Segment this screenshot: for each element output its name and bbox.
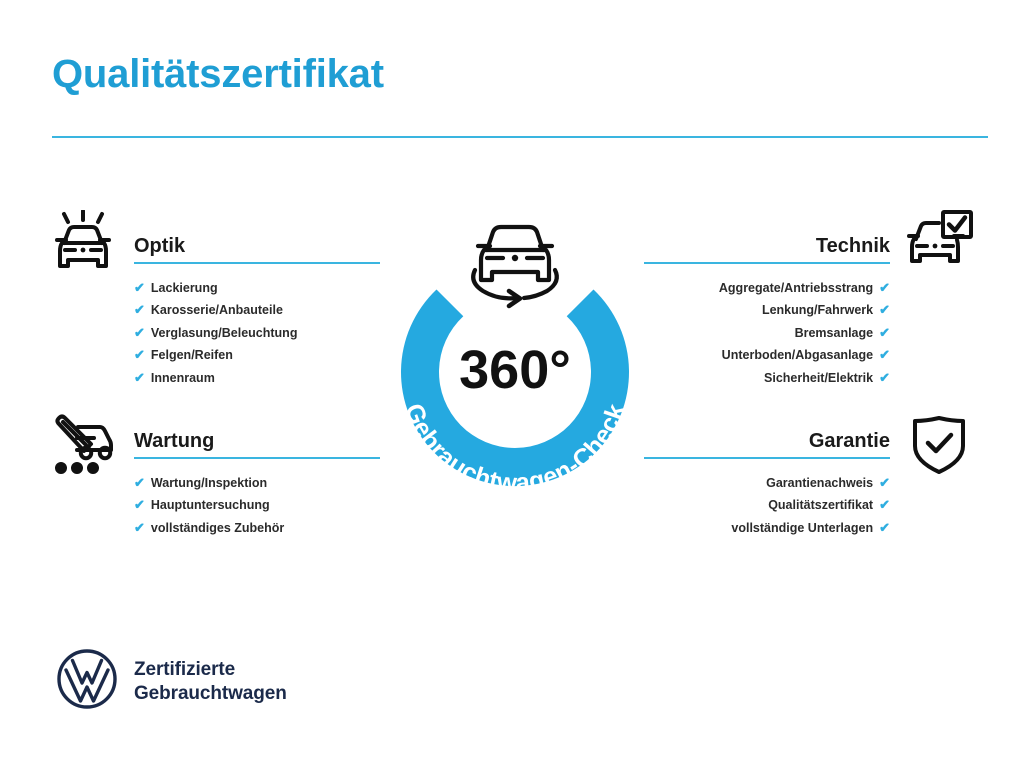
list-item: ✔Innenraum (134, 366, 380, 389)
check-icon: ✔ (879, 347, 890, 362)
title-divider (52, 136, 988, 138)
list-item-label: Qualitätszertifikat (768, 498, 873, 512)
shield-check-icon (910, 414, 968, 481)
list-item-label: Aggregate/Antriebsstrang (719, 281, 873, 295)
list-item-label: Lenkung/Fahrwerk (762, 303, 873, 317)
check-icon: ✔ (134, 280, 145, 295)
list-item-label: Innenraum (151, 371, 215, 385)
list-item: ✔Karosserie/Anbauteile (134, 299, 380, 322)
list-item: ✔Verglasung/Beleuchtung (134, 321, 380, 344)
vw-lockup-line1: Zertifizierte (134, 658, 287, 681)
list-item-label: Unterboden/Abgasanlage (722, 348, 873, 362)
vw-lockup-text: Zertifizierte Gebrauchtwagen (134, 658, 287, 704)
check-icon: ✔ (879, 475, 890, 490)
list-item: Bremsanlage✔ (644, 321, 890, 344)
list-item: ✔Wartung/Inspektion (134, 471, 380, 494)
list-item: Unterboden/Abgasanlage✔ (644, 344, 890, 367)
list-item-label: Felgen/Reifen (151, 348, 233, 362)
vw-certified-lockup: Zertifizierte Gebrauchtwagen (56, 648, 287, 715)
vw-logo (56, 648, 118, 715)
check-icon: ✔ (879, 280, 890, 295)
list-item-label: Verglasung/Beleuchtung (151, 326, 298, 340)
section-technik: Technik Aggregate/Antriebsstrang✔ Lenkun… (644, 236, 890, 389)
section-list-technik: Aggregate/Antriebsstrang✔ Lenkung/Fahrwe… (644, 264, 890, 389)
certificate-page: Qualitätszertifikat Optik ✔Lackierung ✔K… (0, 0, 1024, 768)
check-icon: ✔ (134, 520, 145, 535)
section-list-wartung: ✔Wartung/Inspektion ✔Hauptuntersuchung ✔… (52, 459, 380, 539)
section-list-optik: ✔Lackierung ✔Karosserie/Anbauteile ✔Verg… (52, 264, 380, 389)
check-icon: ✔ (134, 370, 145, 385)
list-item: vollständige Unterlagen✔ (644, 516, 890, 539)
page-title: Qualitätszertifikat (52, 52, 384, 96)
list-item-label: vollständiges Zubehör (151, 521, 284, 535)
list-item: Garantienachweis✔ (644, 471, 890, 494)
check-icon: ✔ (879, 325, 890, 340)
section-wartung: Wartung ✔Wartung/Inspektion ✔Hauptunters… (52, 431, 380, 539)
check-icon: ✔ (879, 370, 890, 385)
check-icon: ✔ (879, 497, 890, 512)
list-item: ✔Lackierung (134, 276, 380, 299)
list-item-label: Karosserie/Anbauteile (151, 303, 283, 317)
badge-center-label: 360° (459, 340, 571, 400)
list-item: Sicherheit/Elektrik✔ (644, 366, 890, 389)
list-item-label: Sicherheit/Elektrik (764, 371, 873, 385)
check-icon: ✔ (134, 302, 145, 317)
section-heading-optik: Optik (52, 236, 380, 262)
check-icon: ✔ (134, 347, 145, 362)
list-item-label: vollständige Unterlagen (731, 521, 873, 535)
section-heading-wartung: Wartung (52, 431, 380, 457)
car-rotate-360-icon (473, 227, 557, 306)
section-garantie: Garantie Garantienachweis✔ Qualitätszert… (644, 431, 890, 539)
car-checkbox-icon (906, 209, 974, 276)
list-item: ✔Felgen/Reifen (134, 344, 380, 367)
check-icon: ✔ (879, 302, 890, 317)
list-item: Qualitätszertifikat✔ (644, 494, 890, 517)
badge-360-gebrauchtwagen-check: 360° Gebrauchtwagen-Check (370, 192, 660, 502)
section-optik: Optik ✔Lackierung ✔Karosserie/Anbauteile… (52, 236, 380, 389)
list-item-label: Bremsanlage (795, 326, 874, 340)
check-icon: ✔ (134, 497, 145, 512)
list-item-label: Lackierung (151, 281, 218, 295)
list-item-label: Garantienachweis (766, 476, 873, 490)
check-icon: ✔ (879, 520, 890, 535)
section-heading-technik: Technik (644, 236, 890, 262)
section-heading-garantie: Garantie (644, 431, 890, 457)
list-item: Lenkung/Fahrwerk✔ (644, 299, 890, 322)
section-list-garantie: Garantienachweis✔ Qualitätszertifikat✔ v… (644, 459, 890, 539)
list-item: Aggregate/Antriebsstrang✔ (644, 276, 890, 299)
list-item: ✔Hauptuntersuchung (134, 494, 380, 517)
check-icon: ✔ (134, 325, 145, 340)
list-item-label: Wartung/Inspektion (151, 476, 267, 490)
list-item: ✔vollständiges Zubehör (134, 516, 380, 539)
list-item-label: Hauptuntersuchung (151, 498, 270, 512)
vw-lockup-line2: Gebrauchtwagen (134, 682, 287, 705)
check-icon: ✔ (134, 475, 145, 490)
